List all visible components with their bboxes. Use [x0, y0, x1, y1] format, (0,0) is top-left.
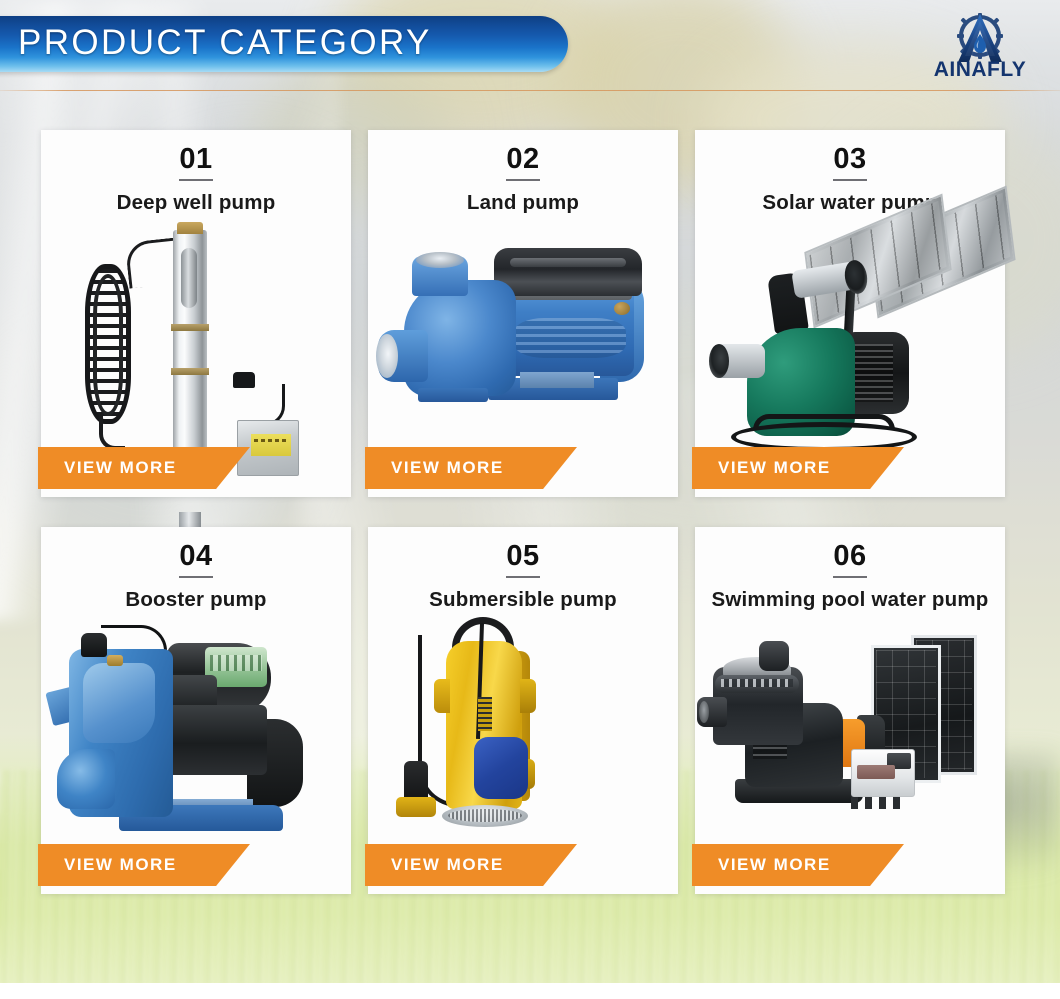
- view-more-button[interactable]: VIEW MORE: [692, 844, 904, 886]
- product-card-land-pump[interactable]: 02 Land pump: [368, 130, 678, 497]
- card-header: 05 Submersible pump: [368, 527, 678, 612]
- product-card-deep-well-pump[interactable]: 01 Deep well pump: [41, 130, 351, 497]
- controller-box: [159, 705, 267, 775]
- view-more-button[interactable]: VIEW MORE: [38, 844, 250, 886]
- cable-tail: [99, 414, 125, 450]
- pump-inlet-port: [57, 749, 115, 809]
- inlet-strainer: [442, 805, 528, 827]
- strainer-lock-ring: [715, 675, 799, 693]
- terminal-box-highlight: [510, 258, 626, 267]
- brass-fitting: [107, 655, 123, 666]
- terminal-box-cover: [494, 248, 642, 296]
- pump-base-plate: [520, 372, 594, 388]
- view-more-label: VIEW MORE: [391, 458, 504, 478]
- card-title: Land pump: [368, 190, 678, 215]
- card-header: 03 Solar water pump: [695, 130, 1005, 215]
- product-card-booster-pump[interactable]: 04 Booster pump: [41, 527, 351, 894]
- view-more-button[interactable]: VIEW MORE: [365, 844, 577, 886]
- card-header: 06 Swimming pool water pump: [695, 527, 1005, 612]
- card-title: Swimming pool water pump: [695, 587, 1005, 612]
- priming-knob: [81, 633, 107, 657]
- card-title: Booster pump: [41, 587, 351, 612]
- page-title: PRODUCT CATEGORY: [18, 23, 432, 63]
- power-wire: [101, 625, 167, 651]
- cable-coil-inner: [93, 274, 123, 416]
- bottom-white-margin: [0, 983, 1060, 999]
- controller-label: [857, 765, 895, 779]
- view-more-label: VIEW MORE: [718, 855, 831, 875]
- pump-outlet-ring: [376, 334, 398, 378]
- product-category-page: PRODUCT CATEGORY: [0, 0, 1060, 999]
- booster-pump-photo: [41, 619, 351, 852]
- card-header: 01 Deep well pump: [41, 130, 351, 215]
- motor-cooling-fins: [851, 344, 893, 402]
- pump-outlet-slot: [181, 248, 197, 308]
- product-card-solar-water-pump[interactable]: 03 Solar water pump: [695, 130, 1005, 497]
- pump-brass-band: [171, 324, 209, 331]
- pump-body-highlight: [83, 663, 155, 743]
- view-more-label: VIEW MORE: [64, 458, 177, 478]
- deep-well-pump-photo: [41, 222, 351, 455]
- swimming-pool-water-pump-photo: [695, 619, 1005, 852]
- solar-water-pump-photo: [695, 222, 1005, 455]
- motor-cooling-fins: [514, 318, 626, 358]
- float-switch-blue: [474, 737, 528, 799]
- page-title-banner: PRODUCT CATEGORY: [0, 16, 568, 72]
- product-category-grid: 01 Deep well pump: [41, 130, 1019, 894]
- label-strip: [478, 697, 492, 731]
- brand-wordmark: AINAFLY: [914, 58, 1046, 82]
- discharge-nozzle-base: [396, 797, 436, 817]
- product-card-submersible-pump[interactable]: 05 Submersible pump: [368, 527, 678, 894]
- card-number: 05: [506, 541, 539, 578]
- brass-knob: [614, 302, 630, 315]
- pump-brass-band: [171, 368, 209, 375]
- pump-foot: [418, 388, 488, 402]
- view-more-button[interactable]: VIEW MORE: [365, 447, 577, 489]
- card-number: 02: [506, 144, 539, 181]
- card-header: 04 Booster pump: [41, 527, 351, 612]
- view-more-label: VIEW MORE: [391, 855, 504, 875]
- mounting-ear: [434, 679, 450, 713]
- card-number: 01: [179, 144, 212, 181]
- view-more-label: VIEW MORE: [718, 458, 831, 478]
- card-title: Deep well pump: [41, 190, 351, 215]
- card-number: 03: [833, 144, 866, 181]
- pump-brass-cap: [177, 222, 203, 234]
- submersible-pump-photo: [368, 619, 678, 852]
- a-monogram-water-drop-gear-icon: [943, 12, 1017, 64]
- view-more-button[interactable]: VIEW MORE: [692, 447, 904, 489]
- controller-cable-glands: [851, 795, 905, 809]
- suction-port: [697, 697, 727, 727]
- control-box-label: [251, 434, 291, 456]
- card-header: 02 Land pump: [368, 130, 678, 215]
- view-more-label: VIEW MORE: [64, 855, 177, 875]
- product-card-swimming-pool-water-pump[interactable]: 06 Swimming pool water pump: [695, 527, 1005, 894]
- brand-logo: AINAFLY: [914, 10, 1046, 94]
- card-number: 06: [833, 541, 866, 578]
- view-more-button[interactable]: VIEW MORE: [38, 447, 250, 489]
- card-number: 04: [179, 541, 212, 578]
- header-divider: [0, 90, 1060, 91]
- pump-inlet-ring: [416, 252, 464, 268]
- discharge-port: [759, 641, 789, 671]
- mounting-ear: [520, 679, 536, 713]
- card-title: Submersible pump: [368, 587, 678, 612]
- page-header: PRODUCT CATEGORY: [0, 16, 1060, 94]
- land-pump-photo: [368, 222, 678, 455]
- pump-inlet-ring: [709, 344, 729, 378]
